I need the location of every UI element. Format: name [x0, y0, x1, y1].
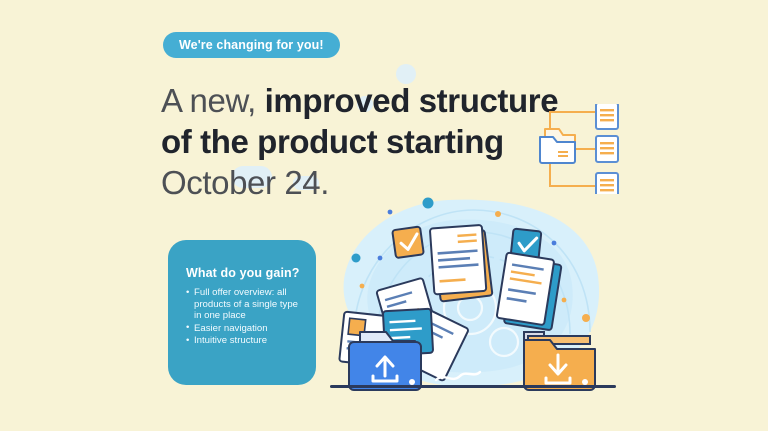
- document-node-2: [596, 136, 618, 162]
- document-stack-center: [430, 225, 493, 302]
- benefits-list: Full offer overview: all products of a s…: [186, 287, 300, 347]
- check-badge-orange: [392, 226, 424, 258]
- file-transfer-illustration: [318, 190, 628, 395]
- list-item: Easier navigation: [186, 323, 300, 335]
- list-item: Intuitive structure: [186, 335, 300, 347]
- upload-folder: [349, 332, 421, 390]
- headline-line-1-light: A new,: [161, 82, 265, 119]
- page-title: A new, improved structure of the product…: [161, 80, 591, 203]
- headline-line-1: A new, improved structure: [161, 80, 591, 121]
- banner-canvas: We're changing for you! A new, improved …: [0, 0, 768, 431]
- document-stack-right: [496, 252, 562, 330]
- download-folder: [524, 332, 595, 390]
- benefits-card-title: What do you gain?: [186, 266, 300, 280]
- announcement-badge: We're changing for you!: [163, 32, 340, 58]
- ground-line: [330, 385, 616, 388]
- structure-tree-diagram: [528, 104, 632, 194]
- folder-icon: [540, 129, 575, 163]
- document-node-1: [596, 104, 618, 129]
- list-item: Full offer overview: all products of a s…: [186, 287, 300, 322]
- benefits-card: What do you gain? Full offer overview: a…: [168, 240, 316, 385]
- announcement-badge-label: We're changing for you!: [179, 38, 324, 52]
- headline-line-1-bold: improved structure: [265, 82, 559, 119]
- headline-line-2: of the product starting: [161, 121, 591, 162]
